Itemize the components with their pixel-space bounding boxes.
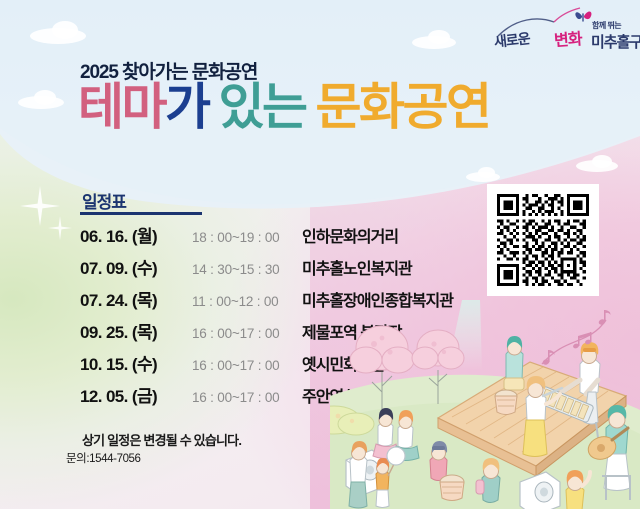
contact-info: 문의:1544-7056 <box>66 450 141 466</box>
schedule-heading-underline <box>80 212 202 215</box>
sparkle-icon <box>47 215 73 241</box>
poster-title: 테마가있는문화공연 <box>78 82 490 132</box>
title-part-thema: 테마 <box>78 79 165 135</box>
outdoor-stage-illustration <box>330 300 640 509</box>
schedule-row: 07. 09. (수) 14 : 30~15 : 30 미추홀노인복지관 <box>80 254 460 286</box>
cloud-icon <box>52 21 78 39</box>
schedule-date: 12. 05. (금) <box>80 382 192 407</box>
schedule-date: 06. 16. (월) <box>80 222 192 247</box>
cloud-icon <box>428 30 450 44</box>
schedule-time: 16 : 00~17 : 00 <box>192 326 302 341</box>
schedule-date: 07. 09. (수) <box>80 254 192 279</box>
logo-text-district: 미추홀구 <box>591 31 640 52</box>
cloud-icon <box>34 90 56 105</box>
schedule-time: 18 : 00~19 : 00 <box>192 230 302 245</box>
poster-canvas: 새로운 변화 함께 뛰는 미추홀구 2025 찾아가는 문화공연 테마가있는문화… <box>0 0 640 509</box>
schedule-venue: 미추홀노인복지관 <box>302 255 412 279</box>
cloud-icon <box>478 167 495 178</box>
title-part-ga: 가 <box>165 79 209 135</box>
michuhol-logo: 새로운 변화 함께 뛰는 미추홀구 <box>492 6 632 54</box>
title-part-munhwagongyeon: 문화공연 <box>316 79 490 135</box>
logo-text-change: 변화 <box>553 25 582 51</box>
schedule-date: 10. 15. (수) <box>80 350 192 375</box>
schedule-change-notice: 상기 일정은 변경될 수 있습니다. <box>82 430 241 449</box>
schedule-time: 14 : 30~15 : 30 <box>192 262 302 277</box>
schedule-row: 06. 16. (월) 18 : 00~19 : 00 인하문화의거리 <box>80 222 460 254</box>
schedule-venue: 인하문화의거리 <box>302 223 398 247</box>
schedule-time: 16 : 00~17 : 00 <box>192 358 302 373</box>
cloud-icon <box>592 155 612 168</box>
qr-code[interactable] <box>487 184 599 296</box>
qr-code-image <box>497 194 589 286</box>
schedule-heading: 일정표 <box>82 188 126 213</box>
schedule-time: 11 : 00~12 : 00 <box>192 294 302 309</box>
schedule-time: 16 : 00~17 : 00 <box>192 390 302 405</box>
schedule-date: 07. 24. (목) <box>80 286 192 311</box>
logo-text-together: 함께 뛰는 <box>592 20 621 31</box>
title-part-itneun: 있는 <box>219 79 306 135</box>
schedule-date: 09. 25. (목) <box>80 318 192 343</box>
logo-text-new: 새로운 <box>493 28 531 52</box>
